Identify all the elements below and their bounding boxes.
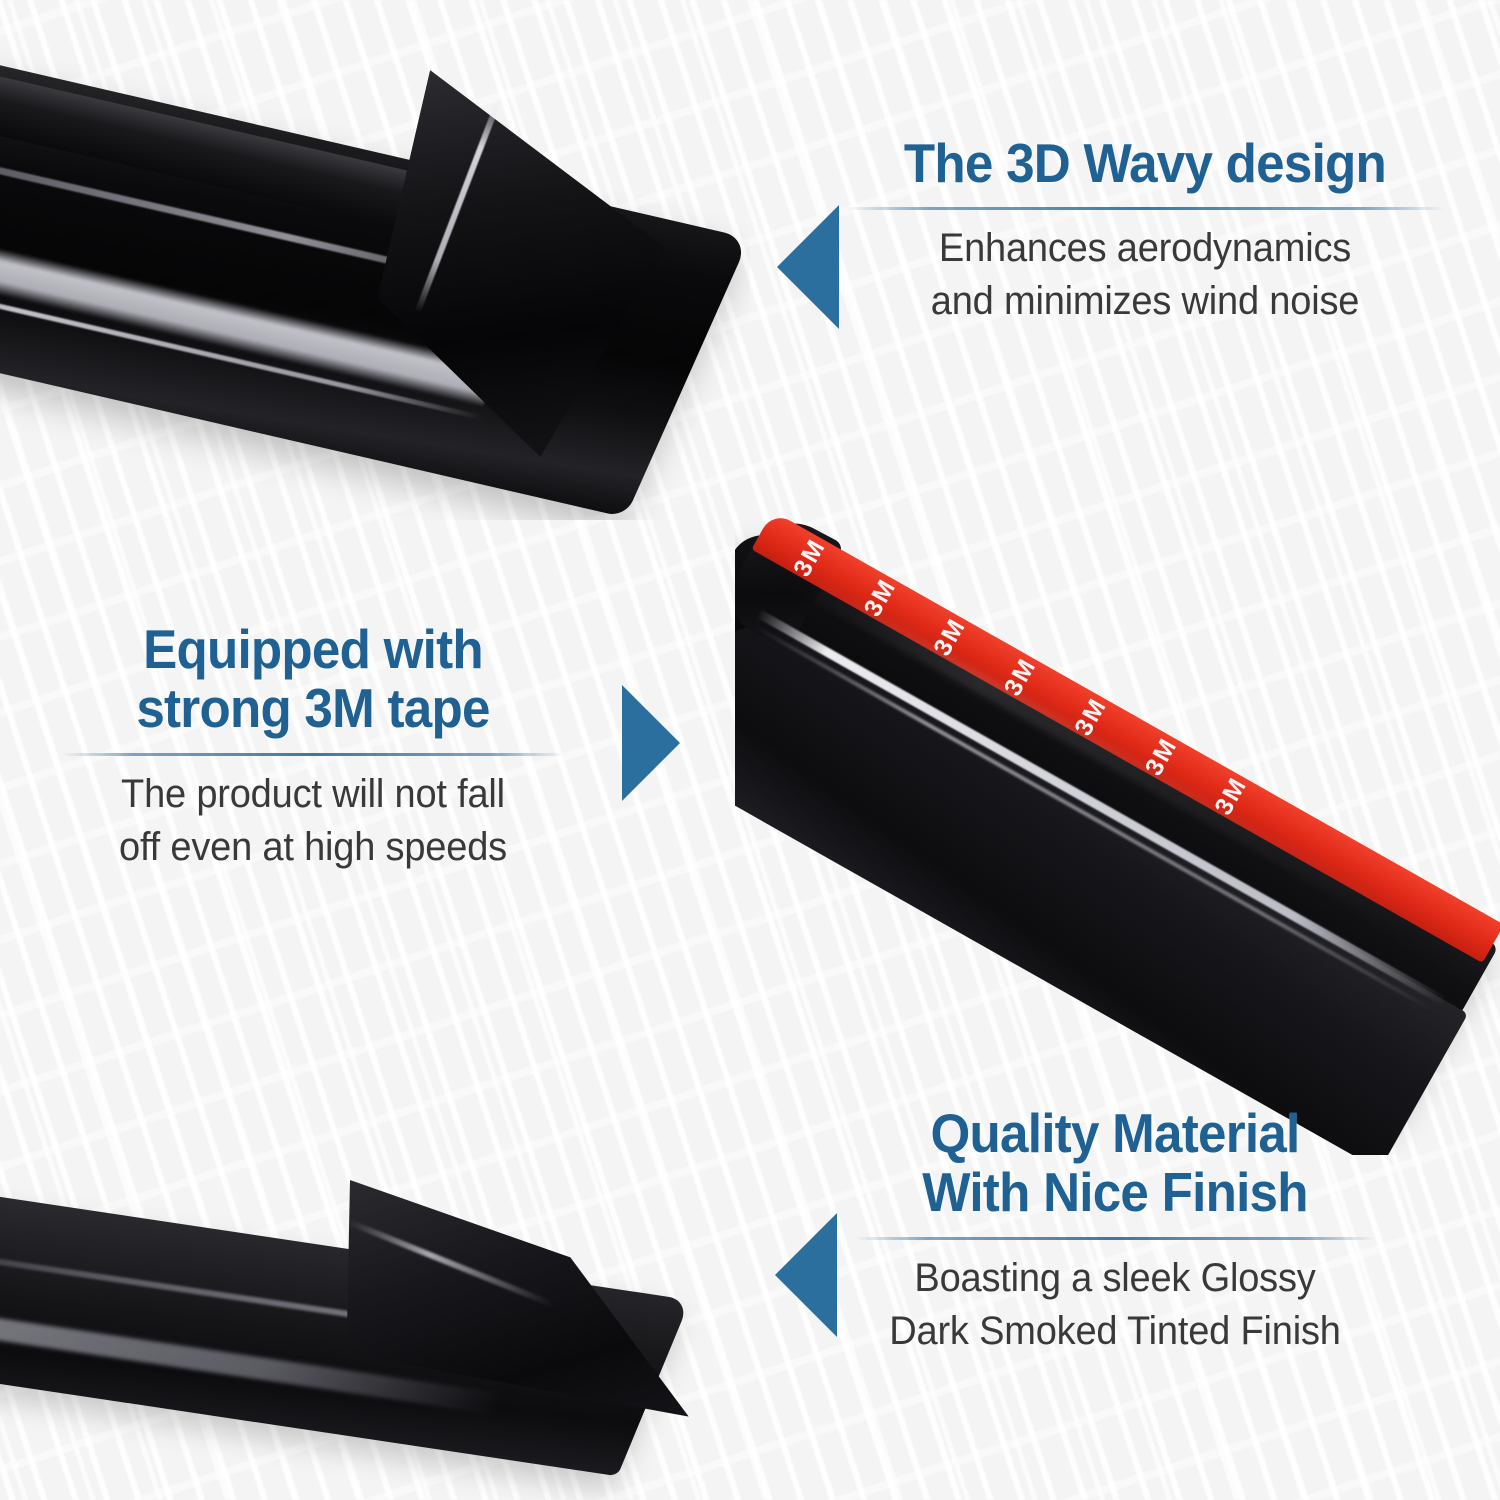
feature-body-wavy-design: Enhances aerodynamics and minimizes wind… — [860, 222, 1430, 328]
feature-heading-quality-material: Quality Material With Nice Finish — [873, 1104, 1357, 1223]
product-infographic: 3M 3M 3M 3M 3M 3M 3M The 3D Wavy design … — [0, 0, 1500, 1500]
feature-heading-3m-tape: Equipped with strong 3M tape — [80, 620, 547, 739]
feature-block-wavy-design: The 3D Wavy design Enhances aerodynamics… — [845, 134, 1445, 328]
feature-divider — [62, 753, 564, 756]
feature-divider — [855, 1237, 1375, 1240]
feature-divider — [845, 207, 1445, 210]
feature-block-quality-material: Quality Material With Nice Finish Boasti… — [855, 1104, 1375, 1357]
product-image-deflector-angled-view — [0, 0, 750, 520]
arrow-left-icon-quality-material — [775, 1213, 837, 1337]
arrow-left-icon-wavy-design — [777, 205, 839, 329]
product-image-deflector-tape-edge: 3M 3M 3M 3M 3M 3M 3M — [735, 505, 1500, 1155]
arrow-right-icon-3m-tape — [622, 685, 680, 801]
feature-block-3m-tape: Equipped with strong 3M tape The product… — [62, 620, 564, 873]
feature-body-3m-tape: The product will not fall off even at hi… — [75, 768, 552, 874]
feature-body-quality-material: Boasting a sleek Glossy Dark Smoked Tint… — [868, 1252, 1362, 1358]
product-image-deflector-profile — [0, 1140, 760, 1500]
feature-heading-wavy-design: The 3D Wavy design — [866, 134, 1424, 193]
